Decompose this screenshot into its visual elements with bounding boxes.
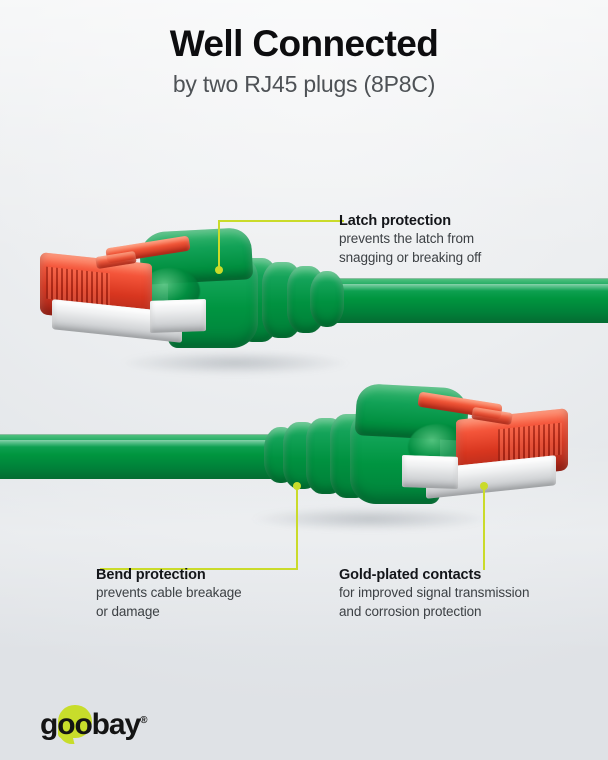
leader-dot-gold <box>480 482 488 490</box>
leader-latch-protection <box>206 214 346 272</box>
metal-shield-top-2 <box>150 299 206 333</box>
logo-text: goobay <box>40 708 140 741</box>
callout-line-2: or damage <box>96 603 326 622</box>
callout-line-1: for improved signal transmission <box>339 584 589 603</box>
leader-bend-protection <box>100 482 310 572</box>
goobay-logo: goobay® <box>40 702 147 740</box>
cable-top <box>330 278 608 323</box>
leader-dot-bend <box>293 482 301 490</box>
infographic-canvas: Well Connected by two RJ45 plugs (8P8C) <box>0 0 608 760</box>
leader-gold-contacts <box>480 482 494 572</box>
page-subtitle: by two RJ45 plugs (8P8C) <box>0 71 608 97</box>
callout-line-2: and corrosion protection <box>339 603 589 622</box>
metal-shield-bottom-2 <box>402 455 458 489</box>
callout-title: Gold-plated contacts <box>339 566 589 584</box>
registered-trademark-icon: ® <box>140 715 147 726</box>
callout-title: Latch protection <box>339 212 579 230</box>
page-title: Well Connected <box>0 24 608 65</box>
header-block: Well Connected by two RJ45 plugs (8P8C) <box>0 24 608 97</box>
cable-assembly-bottom <box>0 352 608 542</box>
callout-latch-protection: Latch protection prevents the latch from… <box>339 212 579 267</box>
callout-title: Bend protection <box>96 566 326 584</box>
leader-dot-latch <box>215 266 223 274</box>
logo-wordmark: goobay® <box>40 708 147 741</box>
callout-bend-protection: Bend protection prevents cable breakage … <box>96 566 326 621</box>
cable-bottom <box>0 434 278 479</box>
callout-gold-plated-contacts: Gold-plated contacts for improved signal… <box>339 566 589 621</box>
callout-line-1: prevents the latch from <box>339 230 579 249</box>
callout-line-1: prevents cable breakage <box>96 584 326 603</box>
callout-line-2: snagging or breaking off <box>339 249 579 268</box>
